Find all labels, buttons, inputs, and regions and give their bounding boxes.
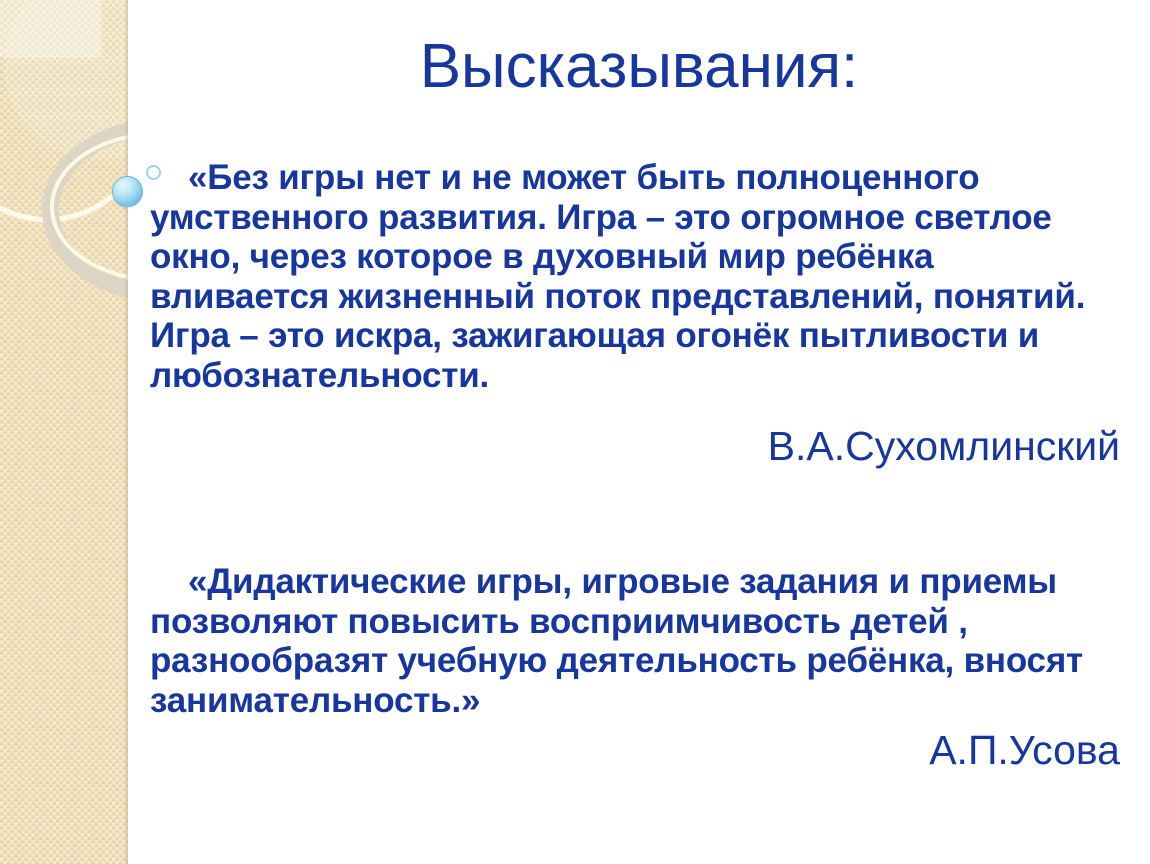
quote-author-1: В.А.Сухомлинский xyxy=(768,424,1120,469)
slide-content: Высказывания: «Без игры нет и не может б… xyxy=(128,0,1150,864)
blue-bubble-outline-icon xyxy=(146,165,161,180)
quote-text-1: «Без игры нет и не может быть полноценно… xyxy=(150,158,1118,395)
quote-author-2: А.П.Усова xyxy=(929,728,1120,773)
slide: Высказывания: «Без игры нет и не может б… xyxy=(0,0,1150,864)
blue-bubble-icon xyxy=(112,176,143,207)
quote-text-2: «Дидактические игры, игровые задания и п… xyxy=(150,562,1118,720)
decorative-sidebar xyxy=(0,0,128,864)
page-title: Высказывания: xyxy=(128,34,1150,99)
